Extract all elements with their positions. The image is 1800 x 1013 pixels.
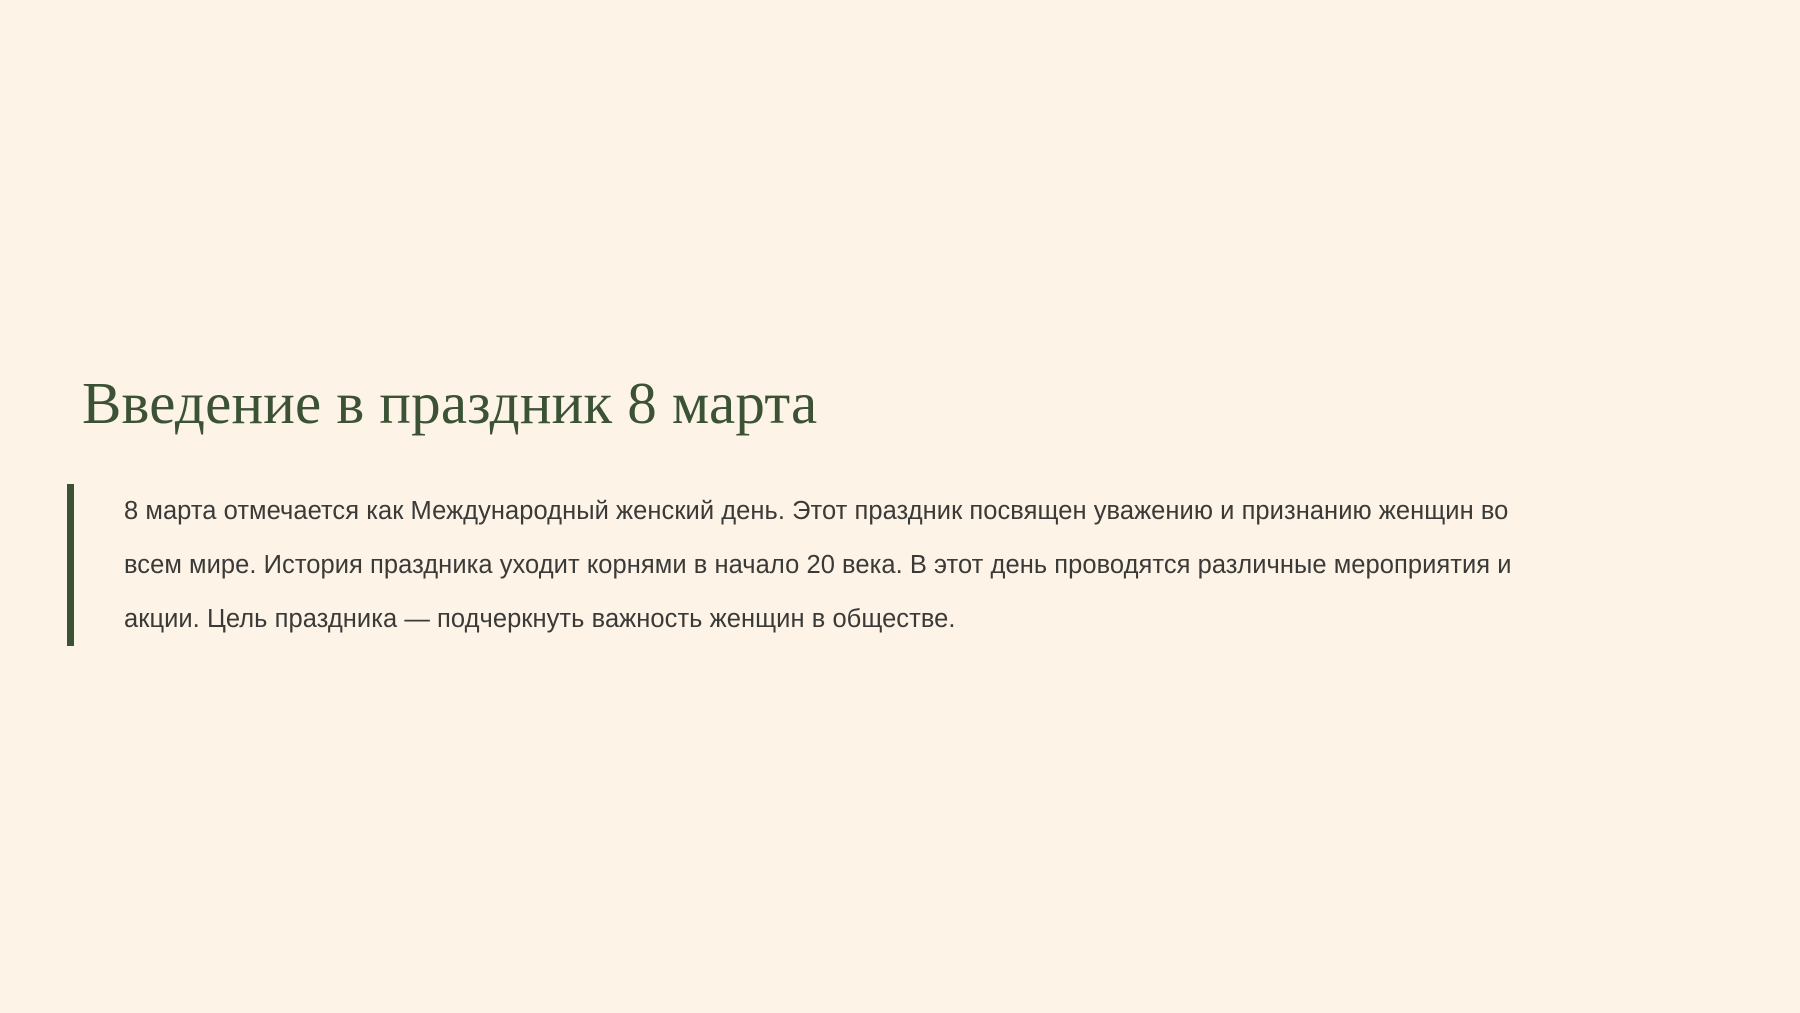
- article-content: Введение в праздник 8 марта 8 марта отме…: [67, 370, 1747, 646]
- intro-paragraph: 8 марта отмечается как Международный жен…: [124, 484, 1567, 646]
- intro-quote-block: 8 марта отмечается как Международный жен…: [67, 484, 1567, 646]
- page-title: Введение в праздник 8 марта: [67, 370, 1747, 436]
- article-page: Введение в праздник 8 марта 8 марта отме…: [0, 0, 1800, 1013]
